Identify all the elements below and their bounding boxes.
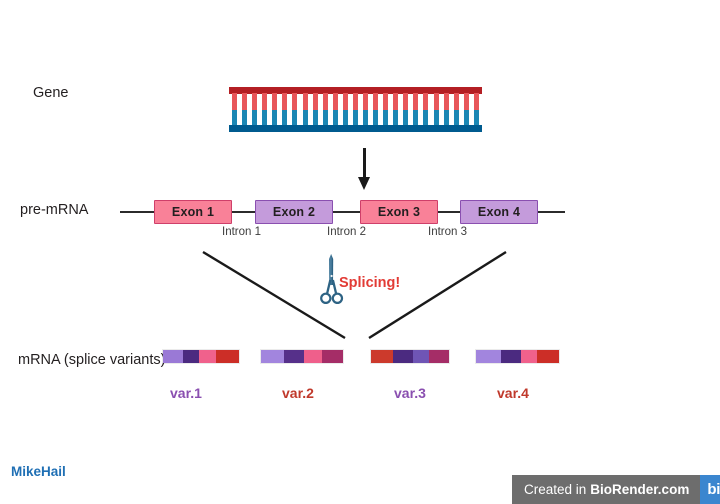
dna-rung-top-half: [303, 93, 308, 110]
dna-rung: [262, 93, 267, 126]
dna-rung-bottom-half: [333, 110, 338, 127]
variant-segment: [261, 350, 284, 363]
dna-rung-bottom-half: [303, 110, 308, 127]
dna-rung: [323, 93, 328, 126]
dna-rung: [444, 93, 449, 126]
variant-segment: [199, 350, 216, 363]
variant-segment: [284, 350, 304, 363]
splicing-connector-lines: [0, 0, 720, 504]
dna-rung-bottom-half: [232, 110, 237, 127]
dna-rung: [343, 93, 348, 126]
dna-rung: [423, 93, 428, 126]
variant-2-label: var.2: [282, 385, 314, 401]
variant-segment: [521, 350, 538, 363]
dna-rung-bottom-half: [262, 110, 267, 127]
dna-rung-top-half: [413, 93, 418, 110]
variant-1-bar: [162, 349, 240, 364]
intron-1-label: Intron 1: [222, 226, 261, 238]
dna-rung-bottom-half: [252, 110, 257, 127]
dna-rung-top-half: [373, 93, 378, 110]
variant-segment: [393, 350, 413, 363]
splicing-label: Splicing!: [339, 275, 400, 291]
dna-rung-bottom-half: [242, 110, 247, 127]
dna-rung-top-half: [444, 93, 449, 110]
dna-rung: [454, 93, 459, 126]
dna-rung-top-half: [333, 93, 338, 110]
dna-rung-bottom-half: [413, 110, 418, 127]
intron-3-label: Intron 3: [428, 226, 467, 238]
dna-rung-top-half: [454, 93, 459, 110]
exon-1-box: Exon 1: [154, 200, 232, 224]
dna-rung-top-half: [282, 93, 287, 110]
dna-rung-top-half: [323, 93, 328, 110]
dna-rung: [303, 93, 308, 126]
dna-rung-bottom-half: [363, 110, 368, 127]
dna-rung: [272, 93, 277, 126]
dna-rung-top-half: [403, 93, 408, 110]
dna-rung-bottom-half: [423, 110, 428, 127]
dna-rung: [393, 93, 398, 126]
dna-rung-bottom-half: [292, 110, 297, 127]
scissors-handle-right: [333, 294, 342, 303]
dna-rung-bottom-half: [343, 110, 348, 127]
dna-rung: [434, 93, 439, 126]
dna-rung: [252, 93, 257, 126]
dna-rung-bottom-half: [373, 110, 378, 127]
dna-rung: [313, 93, 318, 126]
dna-rung-top-half: [262, 93, 267, 110]
dna-rung: [242, 93, 247, 126]
dna-rung: [232, 93, 237, 126]
dna-rung-top-half: [464, 93, 469, 110]
variant-segment: [216, 350, 239, 363]
badge-brand-label: BioRender.com: [590, 482, 689, 497]
dna-rung-bottom-half: [353, 110, 358, 127]
dna-rung-bottom-half: [393, 110, 398, 127]
variant-3-bar: [370, 349, 450, 364]
dna-rung-top-half: [343, 93, 348, 110]
variant-segment: [537, 350, 559, 363]
dna-rung-top-half: [242, 93, 247, 110]
variant-segment: [413, 350, 429, 363]
scissors-arm-left: [327, 280, 330, 294]
dna-rung-top-half: [252, 93, 257, 110]
dna-rung-top-half: [232, 93, 237, 110]
dna-rung: [403, 93, 408, 126]
dna-rung: [474, 93, 479, 126]
connector-line-right: [369, 252, 506, 338]
variant-segment: [163, 350, 183, 363]
variant-segment: [501, 350, 521, 363]
dna-base-pair-rungs: [229, 93, 482, 126]
dna-rung-bottom-half: [434, 110, 439, 127]
dna-rung-bottom-half: [444, 110, 449, 127]
dna-rung-top-half: [353, 93, 358, 110]
variant-segment: [429, 350, 449, 363]
biorender-logo-icon: bio: [700, 475, 720, 504]
variant-segment: [322, 350, 343, 363]
dna-rung-bottom-half: [383, 110, 388, 127]
variant-3-label: var.3: [394, 385, 426, 401]
dna-rung: [282, 93, 287, 126]
dna-rung: [383, 93, 388, 126]
dna-rung: [333, 93, 338, 126]
exon-4-box: Exon 4: [460, 200, 538, 224]
figure-canvas: Gene pre-mRNA mRNA (splice variants) Exo…: [0, 0, 720, 504]
mrna-row-label: mRNA (splice variants): [18, 352, 165, 368]
scissors-pivot: [331, 275, 333, 277]
dna-rung: [363, 93, 368, 126]
variant-segment: [371, 350, 393, 363]
badge-prefix-label: Created in: [524, 482, 586, 497]
arrow-down-icon: [357, 148, 371, 190]
variant-1-label: var.1: [170, 385, 202, 401]
dna-rung-bottom-half: [313, 110, 318, 127]
author-signature: MikeHail: [11, 464, 66, 479]
variant-segment: [304, 350, 322, 363]
premrna-row-label: pre-mRNA: [20, 202, 88, 218]
dna-rung-top-half: [363, 93, 368, 110]
premrna-transcript: Exon 1 Exon 2 Exon 3 Exon 4: [120, 200, 565, 224]
variant-4-label: var.4: [497, 385, 529, 401]
dna-rung-top-half: [313, 93, 318, 110]
arrow-shaft: [363, 148, 366, 180]
variant-segment: [476, 350, 501, 363]
dna-rung: [353, 93, 358, 126]
dna-rung-bottom-half: [323, 110, 328, 127]
dna-rung-top-half: [434, 93, 439, 110]
dna-rung-top-half: [272, 93, 277, 110]
dna-rung-bottom-half: [272, 110, 277, 127]
arrow-head: [358, 177, 370, 190]
dna-rung-top-half: [423, 93, 428, 110]
dna-rung-bottom-half: [403, 110, 408, 127]
dna-rung-top-half: [383, 93, 388, 110]
exon-3-box: Exon 3: [360, 200, 438, 224]
variant-4-bar: [475, 349, 560, 364]
dna-rung: [413, 93, 418, 126]
exon-2-box: Exon 2: [255, 200, 333, 224]
biorender-badge-text: Created in BioRender.com: [512, 475, 700, 504]
variant-segment: [183, 350, 200, 363]
dna-rung-top-half: [393, 93, 398, 110]
dna-rung: [292, 93, 297, 126]
dna-rung-bottom-half: [464, 110, 469, 127]
dna-rung: [464, 93, 469, 126]
dna-rung-bottom-half: [454, 110, 459, 127]
intron-2-label: Intron 2: [327, 226, 366, 238]
dna-rung-bottom-half: [474, 110, 479, 127]
dna-rung: [373, 93, 378, 126]
dna-backbone-bottom-strand: [229, 125, 482, 132]
scissors-handle-left: [321, 294, 330, 303]
dna-double-strand: [229, 87, 482, 132]
dna-rung-bottom-half: [282, 110, 287, 127]
scissors-arm-right: [333, 280, 336, 294]
biorender-badge[interactable]: Created in BioRender.com bio: [512, 475, 720, 504]
gene-row-label: Gene: [33, 85, 68, 101]
variant-2-bar: [260, 349, 344, 364]
dna-rung-top-half: [474, 93, 479, 110]
dna-rung-top-half: [292, 93, 297, 110]
